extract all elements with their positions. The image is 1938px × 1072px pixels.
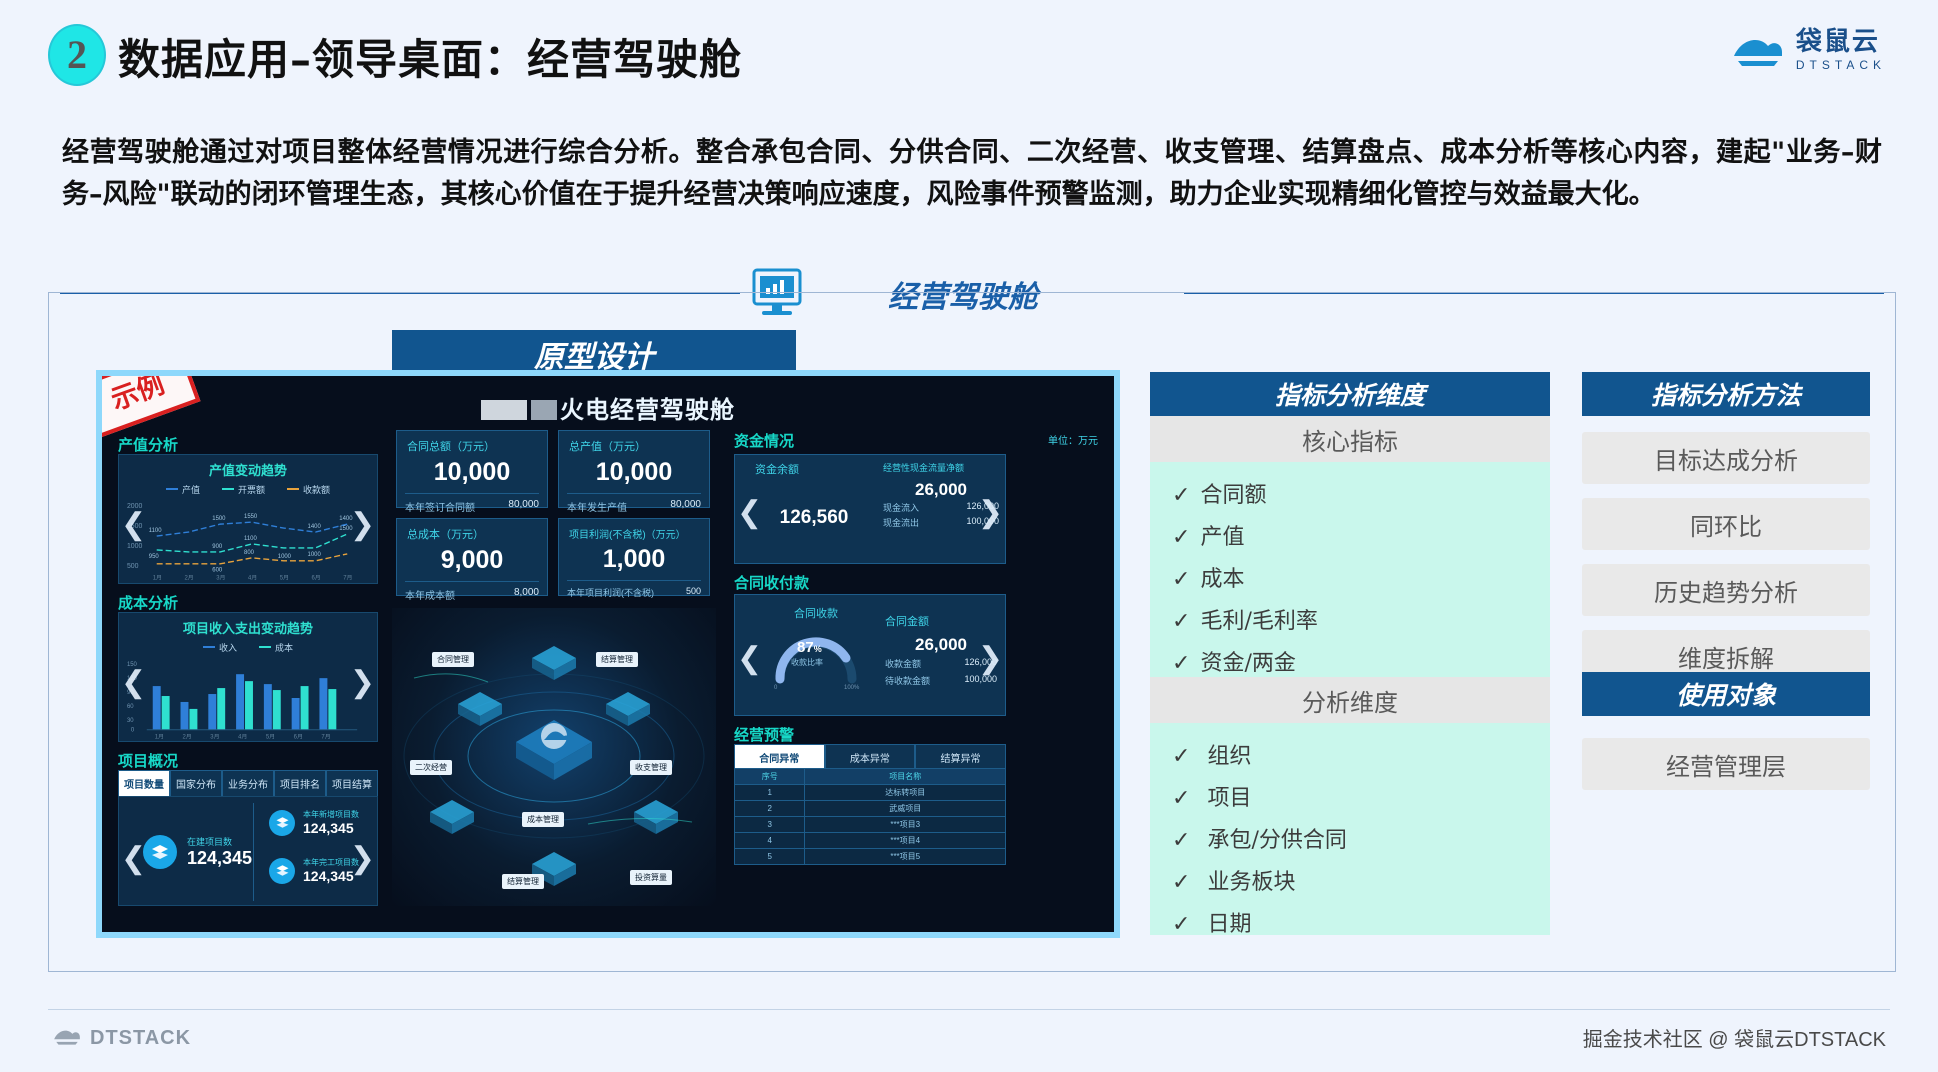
list-item: ✓ 项目 xyxy=(1150,775,1550,817)
svg-text:1000: 1000 xyxy=(127,543,143,550)
check-icon: ✓ xyxy=(1172,912,1190,937)
tab-project-settle[interactable]: 项目结算 xyxy=(326,770,378,797)
check-icon: ✓ xyxy=(1172,483,1190,508)
check-icon: ✓ xyxy=(1172,651,1190,676)
svg-text:7月: 7月 xyxy=(321,734,330,741)
list-item: ✓ 业务板块 xyxy=(1150,859,1550,901)
check-icon: ✓ xyxy=(1172,744,1190,769)
list-item: ✓ 组织 xyxy=(1150,733,1550,775)
logo-text-cn: 袋鼠云 xyxy=(1796,28,1886,54)
svg-text:3月: 3月 xyxy=(210,734,219,741)
section-title-project: 项目概况 xyxy=(118,750,178,771)
project-side-metric-0: 本年新增项目数 124,345 xyxy=(269,809,359,836)
chart-prev-arrow-output[interactable]: ❮ xyxy=(121,507,146,542)
list-item: ✓成本 xyxy=(1150,556,1550,598)
core-metrics-header: 核心指标 xyxy=(1150,416,1550,462)
list-item: ✓ 日期 xyxy=(1150,901,1550,943)
svg-text:3月: 3月 xyxy=(216,575,225,582)
section-title-alerts: 经营预警 xyxy=(734,724,794,745)
footer-divider xyxy=(48,1009,1890,1010)
cost-trend-chart: 项目收入支出变动趋势 收入 成本 15012090 60300 xyxy=(118,612,378,742)
kangaroo-cloud-icon xyxy=(52,1025,82,1052)
svg-text:1100: 1100 xyxy=(149,528,162,534)
table-row[interactable]: 5***项目5 xyxy=(735,849,1006,865)
node-label-secondary: 二次经营 xyxy=(410,760,452,775)
legend-item-0: 产值 xyxy=(166,483,200,496)
tab-project-rank[interactable]: 项目排名 xyxy=(274,770,326,797)
footer-brand: DTSTACK xyxy=(90,1027,191,1050)
funds-row-inflow: 现金流入126,000 xyxy=(883,500,999,515)
svg-text:1400: 1400 xyxy=(308,524,322,530)
col-name: 项目名称 xyxy=(805,769,1006,785)
table-row[interactable]: 2武威项目 xyxy=(735,801,1006,817)
layers-icon xyxy=(269,810,295,836)
svg-text:1550: 1550 xyxy=(244,514,258,520)
alerts-tabs[interactable]: 合同异常 成本异常 结算异常 xyxy=(734,744,1006,771)
side-label-1: 本年完工项目数 xyxy=(303,857,359,868)
payment-right-title: 合同金额 xyxy=(885,607,997,629)
svg-text:6月: 6月 xyxy=(294,734,303,741)
payment-row-pending: 待收款金额100,000 xyxy=(885,672,997,689)
analysis-dimension-header: 分析维度 xyxy=(1150,677,1550,723)
kpi-foot-value: 80,000 xyxy=(508,499,539,514)
kpi-card-total-output: 总产值（万元） 10,000 本年发生产值80,000 xyxy=(558,430,710,508)
footer-attribution: 掘金技术社区 @ 袋鼠云DTSTACK xyxy=(1583,1023,1886,1052)
tab-business-dist[interactable]: 业务分布 xyxy=(222,770,274,797)
redaction-block-2 xyxy=(531,400,557,420)
dimension-panel-title: 指标分析维度 xyxy=(1150,372,1550,416)
chart-title-output: 产值变动趋势 xyxy=(119,455,377,479)
table-row[interactable]: 4***项目4 xyxy=(735,833,1006,849)
svg-text:0: 0 xyxy=(131,728,135,734)
svg-text:950: 950 xyxy=(149,554,160,560)
project-main-metric: 在建项目数 124,345 xyxy=(143,835,252,869)
table-row[interactable]: 1达标转项目 xyxy=(735,785,1006,801)
svg-text:600: 600 xyxy=(212,568,223,574)
output-line-svg: 2000 1500 1000 500 110015001550 14001400… xyxy=(119,496,377,584)
chart-legend-cost: 收入 成本 xyxy=(119,641,377,654)
funds-row-outflow: 现金流出100,000 xyxy=(883,515,999,530)
slide-page: 2 数据应用–领导桌面：经营驾驶舱 袋鼠云 DTSTACK 经营驾驶舱通过对项目… xyxy=(0,0,1938,1072)
svg-text:1000: 1000 xyxy=(278,554,292,560)
unit-label: 单位：万元 xyxy=(1048,432,1098,447)
kpi-foot-value: 500 xyxy=(686,586,701,599)
gauge-percent: 87% xyxy=(797,639,822,656)
node-label-investment: 投资算量 xyxy=(630,870,672,885)
kpi-label: 总成本（万元） xyxy=(397,519,547,542)
svg-text:1月: 1月 xyxy=(153,575,162,582)
page-title: 数据应用–领导桌面：经营驾驶舱 xyxy=(118,26,742,87)
list-item: ✓毛利/毛利率 xyxy=(1150,598,1550,640)
divider xyxy=(253,803,254,901)
alerts-table: 序号 项目名称 1达标转项目 2武威项目 3***项目3 4***项目4 5**… xyxy=(734,768,1006,865)
side-value-0: 124,345 xyxy=(303,820,359,836)
kpi-foot-value: 8,000 xyxy=(514,587,539,602)
svg-text:2月: 2月 xyxy=(184,575,193,582)
kpi-foot-label: 本年签订合同额 xyxy=(405,499,475,514)
legend-item-2: 收款额 xyxy=(287,483,330,496)
svg-text:30: 30 xyxy=(127,718,134,724)
svg-text:5月: 5月 xyxy=(266,734,275,741)
section-title-output: 产值分析 xyxy=(118,434,178,455)
chart-next-arrow-cost[interactable]: ❯ xyxy=(350,665,375,700)
dimension-panel: 指标分析维度 核心指标 ✓合同额 ✓产值 ✓成本 ✓毛利/毛利率 ✓资金/两金 … xyxy=(1150,372,1550,935)
list-item: ✓资金/两金 xyxy=(1150,640,1550,682)
list-item: ✓产值 xyxy=(1150,514,1550,556)
funds-card: ❮ ❯ 资金余额 126,560 经营性现金流量净额 26,000 现金流入12… xyxy=(734,454,1006,564)
kpi-value: 10,000 xyxy=(559,454,709,487)
funds-net-label: 经营性现金流量净额 xyxy=(883,455,999,474)
check-icon: ✓ xyxy=(1172,609,1190,634)
list-item: ✓ 承包/分供合同 xyxy=(1150,817,1550,859)
kpi-label: 合同总额（万元） xyxy=(397,431,547,454)
legend-item-1: 开票额 xyxy=(222,483,265,496)
dashboard-mockup: 火电经营驾驶舱 产值分析 产值变动趋势 产值 开票额 收款额 2000 1500… xyxy=(96,370,1120,938)
project-overview-panel: ❮ ❯ 在建项目数 124,345 xyxy=(118,796,378,906)
payment-right-value: 26,000 xyxy=(885,635,997,655)
svg-text:1100: 1100 xyxy=(244,536,257,542)
svg-text:500: 500 xyxy=(127,563,139,570)
layers-icon xyxy=(143,835,177,869)
kpi-label: 总产值（万元） xyxy=(559,431,709,454)
project-main-value: 124,345 xyxy=(187,848,252,869)
check-icon: ✓ xyxy=(1172,525,1190,550)
core-metrics-list: ✓合同额 ✓产值 ✓成本 ✓毛利/毛利率 ✓资金/两金 xyxy=(1150,462,1550,677)
footer-logo: DTSTACK xyxy=(52,1025,191,1052)
center-3d-visual: 合同管理 结算管理 二次经营 收支管理 成本管理 投资算量 结算管理 xyxy=(392,608,716,906)
svg-text:4月: 4月 xyxy=(248,575,257,582)
payment-row-received: 收款金额126,000 xyxy=(885,655,997,672)
gauge-max: 100% xyxy=(844,685,860,691)
kpi-value: 10,000 xyxy=(397,454,547,487)
kpi-card-total-cost: 总成本（万元） 9,000 本年成本额8,000 xyxy=(396,518,548,596)
dashboard-title-text: 火电经营驾驶舱 xyxy=(560,397,735,424)
section-title-cost: 成本分析 xyxy=(118,592,178,613)
node-label-settle-manage: 结算管理 xyxy=(502,874,544,889)
svg-text:4月: 4月 xyxy=(238,734,247,741)
gauge-min: 0 xyxy=(774,685,778,691)
tab-settlement-abnormal[interactable]: 结算异常 xyxy=(915,744,1006,771)
collection-ratio-gauge: 0 100% xyxy=(764,621,868,691)
table-header-row: 序号 项目名称 xyxy=(735,769,1006,785)
check-icon: ✓ xyxy=(1172,567,1190,592)
funds-balance-value: 126,560 xyxy=(755,507,873,529)
side-value-1: 124,345 xyxy=(303,868,359,884)
section-number-badge: 2 xyxy=(48,24,106,86)
project-overview-tabs[interactable]: 项目数量 国家分布 业务分布 项目排名 项目结算 xyxy=(118,770,378,797)
gauge-caption: 收款比率 xyxy=(791,657,823,668)
svg-text:1月: 1月 xyxy=(155,734,164,741)
layers-icon xyxy=(269,858,295,884)
method-item-yoy-mom[interactable]: 同环比 xyxy=(1582,498,1870,550)
svg-text:5月: 5月 xyxy=(280,575,289,582)
tab-contract-abnormal[interactable]: 合同异常 xyxy=(734,744,825,771)
table-row[interactable]: 3***项目3 xyxy=(735,817,1006,833)
cost-bar-svg: 15012090 60300 1月2月3月 xyxy=(119,654,377,742)
output-trend-chart: 产值变动趋势 产值 开票额 收款额 2000 1500 1000 500 110… xyxy=(118,454,378,584)
side-label-0: 本年新增项目数 xyxy=(303,809,359,820)
dashboard-canvas: 火电经营驾驶舱 产值分析 产值变动趋势 产值 开票额 收款额 2000 1500… xyxy=(102,376,1114,932)
method-panel-title: 指标分析方法 xyxy=(1582,372,1870,416)
legend-item-cost: 成本 xyxy=(259,641,293,654)
method-item-history-trend[interactable]: 历史趋势分析 xyxy=(1582,564,1870,616)
method-item-goal[interactable]: 目标达成分析 xyxy=(1582,432,1870,484)
node-label-contract: 合同管理 xyxy=(432,652,474,667)
method-panel: 指标分析方法 目标达成分析 同环比 历史趋势分析 维度拆解 xyxy=(1582,372,1870,696)
section-title-contract-payment: 合同收付款 xyxy=(734,572,809,593)
node-label-income-expense: 收支管理 xyxy=(630,760,672,775)
kpi-foot-label: 本年发生产值 xyxy=(567,499,627,514)
chart-next-arrow-output[interactable]: ❯ xyxy=(350,507,375,542)
brand-logo: 袋鼠云 DTSTACK xyxy=(1730,28,1886,71)
kpi-foot-value: 80,000 xyxy=(670,499,701,514)
check-icon: ✓ xyxy=(1172,786,1190,811)
logo-text-en: DTSTACK xyxy=(1796,59,1886,71)
redaction-block-1 xyxy=(481,400,527,420)
kpi-foot-label: 本年项目利润(不含税) xyxy=(567,586,654,599)
legend-item-income: 收入 xyxy=(203,641,237,654)
kpi-label: 项目利润(不含税)（万元） xyxy=(559,519,709,541)
audience-panel-title: 使用对象 xyxy=(1582,672,1870,716)
kpi-value: 1,000 xyxy=(559,541,709,574)
project-side-metric-1: 本年完工项目数 124,345 xyxy=(269,857,359,884)
col-no: 序号 xyxy=(735,769,805,785)
tab-cost-abnormal[interactable]: 成本异常 xyxy=(825,744,916,771)
intro-paragraph: 经营驾驶舱通过对项目整体经营情况进行综合分析。整合承包合同、分供合同、二次经营、… xyxy=(62,132,1882,216)
svg-text:7月: 7月 xyxy=(343,575,352,582)
node-label-settlement: 结算管理 xyxy=(596,652,638,667)
check-icon: ✓ xyxy=(1172,870,1190,895)
dashboard-title: 火电经营驾驶舱 xyxy=(102,390,1114,425)
funds-balance-label: 资金余额 xyxy=(755,455,873,477)
kpi-card-project-profit: 项目利润(不含税)（万元） 1,000 本年项目利润(不含税)500 xyxy=(558,518,710,596)
svg-text:60: 60 xyxy=(127,704,134,710)
chart-title-cost: 项目收入支出变动趋势 xyxy=(119,613,377,637)
check-icon: ✓ xyxy=(1172,828,1190,853)
node-label-cost: 成本管理 xyxy=(522,812,564,827)
audience-panel: 使用对象 经营管理层 xyxy=(1582,672,1870,804)
svg-text:1500: 1500 xyxy=(212,516,226,522)
kpi-value: 9,000 xyxy=(397,542,547,575)
kpi-foot-label: 本年成本额 xyxy=(405,587,455,602)
tab-country-dist[interactable]: 国家分布 xyxy=(170,770,222,797)
project-main-label: 在建项目数 xyxy=(187,835,252,848)
slide-header: 2 数据应用–领导桌面：经营驾驶舱 袋鼠云 DTSTACK xyxy=(0,0,1938,104)
payment-left-title: 合同收款 xyxy=(757,599,875,621)
svg-text:1000: 1000 xyxy=(308,552,322,558)
list-item: ✓合同额 xyxy=(1150,472,1550,514)
kpi-card-contract-total: 合同总额（万元） 10,000 本年签订合同额80,000 xyxy=(396,430,548,508)
audience-item-management: 经营管理层 xyxy=(1582,738,1870,790)
funds-net-value: 26,000 xyxy=(883,480,999,500)
contract-payment-card: ❮ ❯ 合同收款 0 100% 87% 收款比率 合同金额 26,000 xyxy=(734,594,1006,716)
svg-text:900: 900 xyxy=(212,544,223,550)
chart-prev-arrow-cost[interactable]: ❮ xyxy=(121,665,146,700)
chart-legend-output: 产值 开票额 收款额 xyxy=(119,483,377,496)
analysis-dimension-list: ✓ 组织 ✓ 项目 ✓ 承包/分供合同 ✓ 业务板块 ✓ 日期 xyxy=(1150,723,1550,935)
svg-text:2月: 2月 xyxy=(183,734,192,741)
svg-text:6月: 6月 xyxy=(312,575,321,582)
kangaroo-cloud-icon xyxy=(1730,30,1786,70)
tab-project-count[interactable]: 项目数量 xyxy=(118,770,170,797)
svg-text:800: 800 xyxy=(244,550,255,556)
section-title-funds: 资金情况 xyxy=(734,430,794,451)
